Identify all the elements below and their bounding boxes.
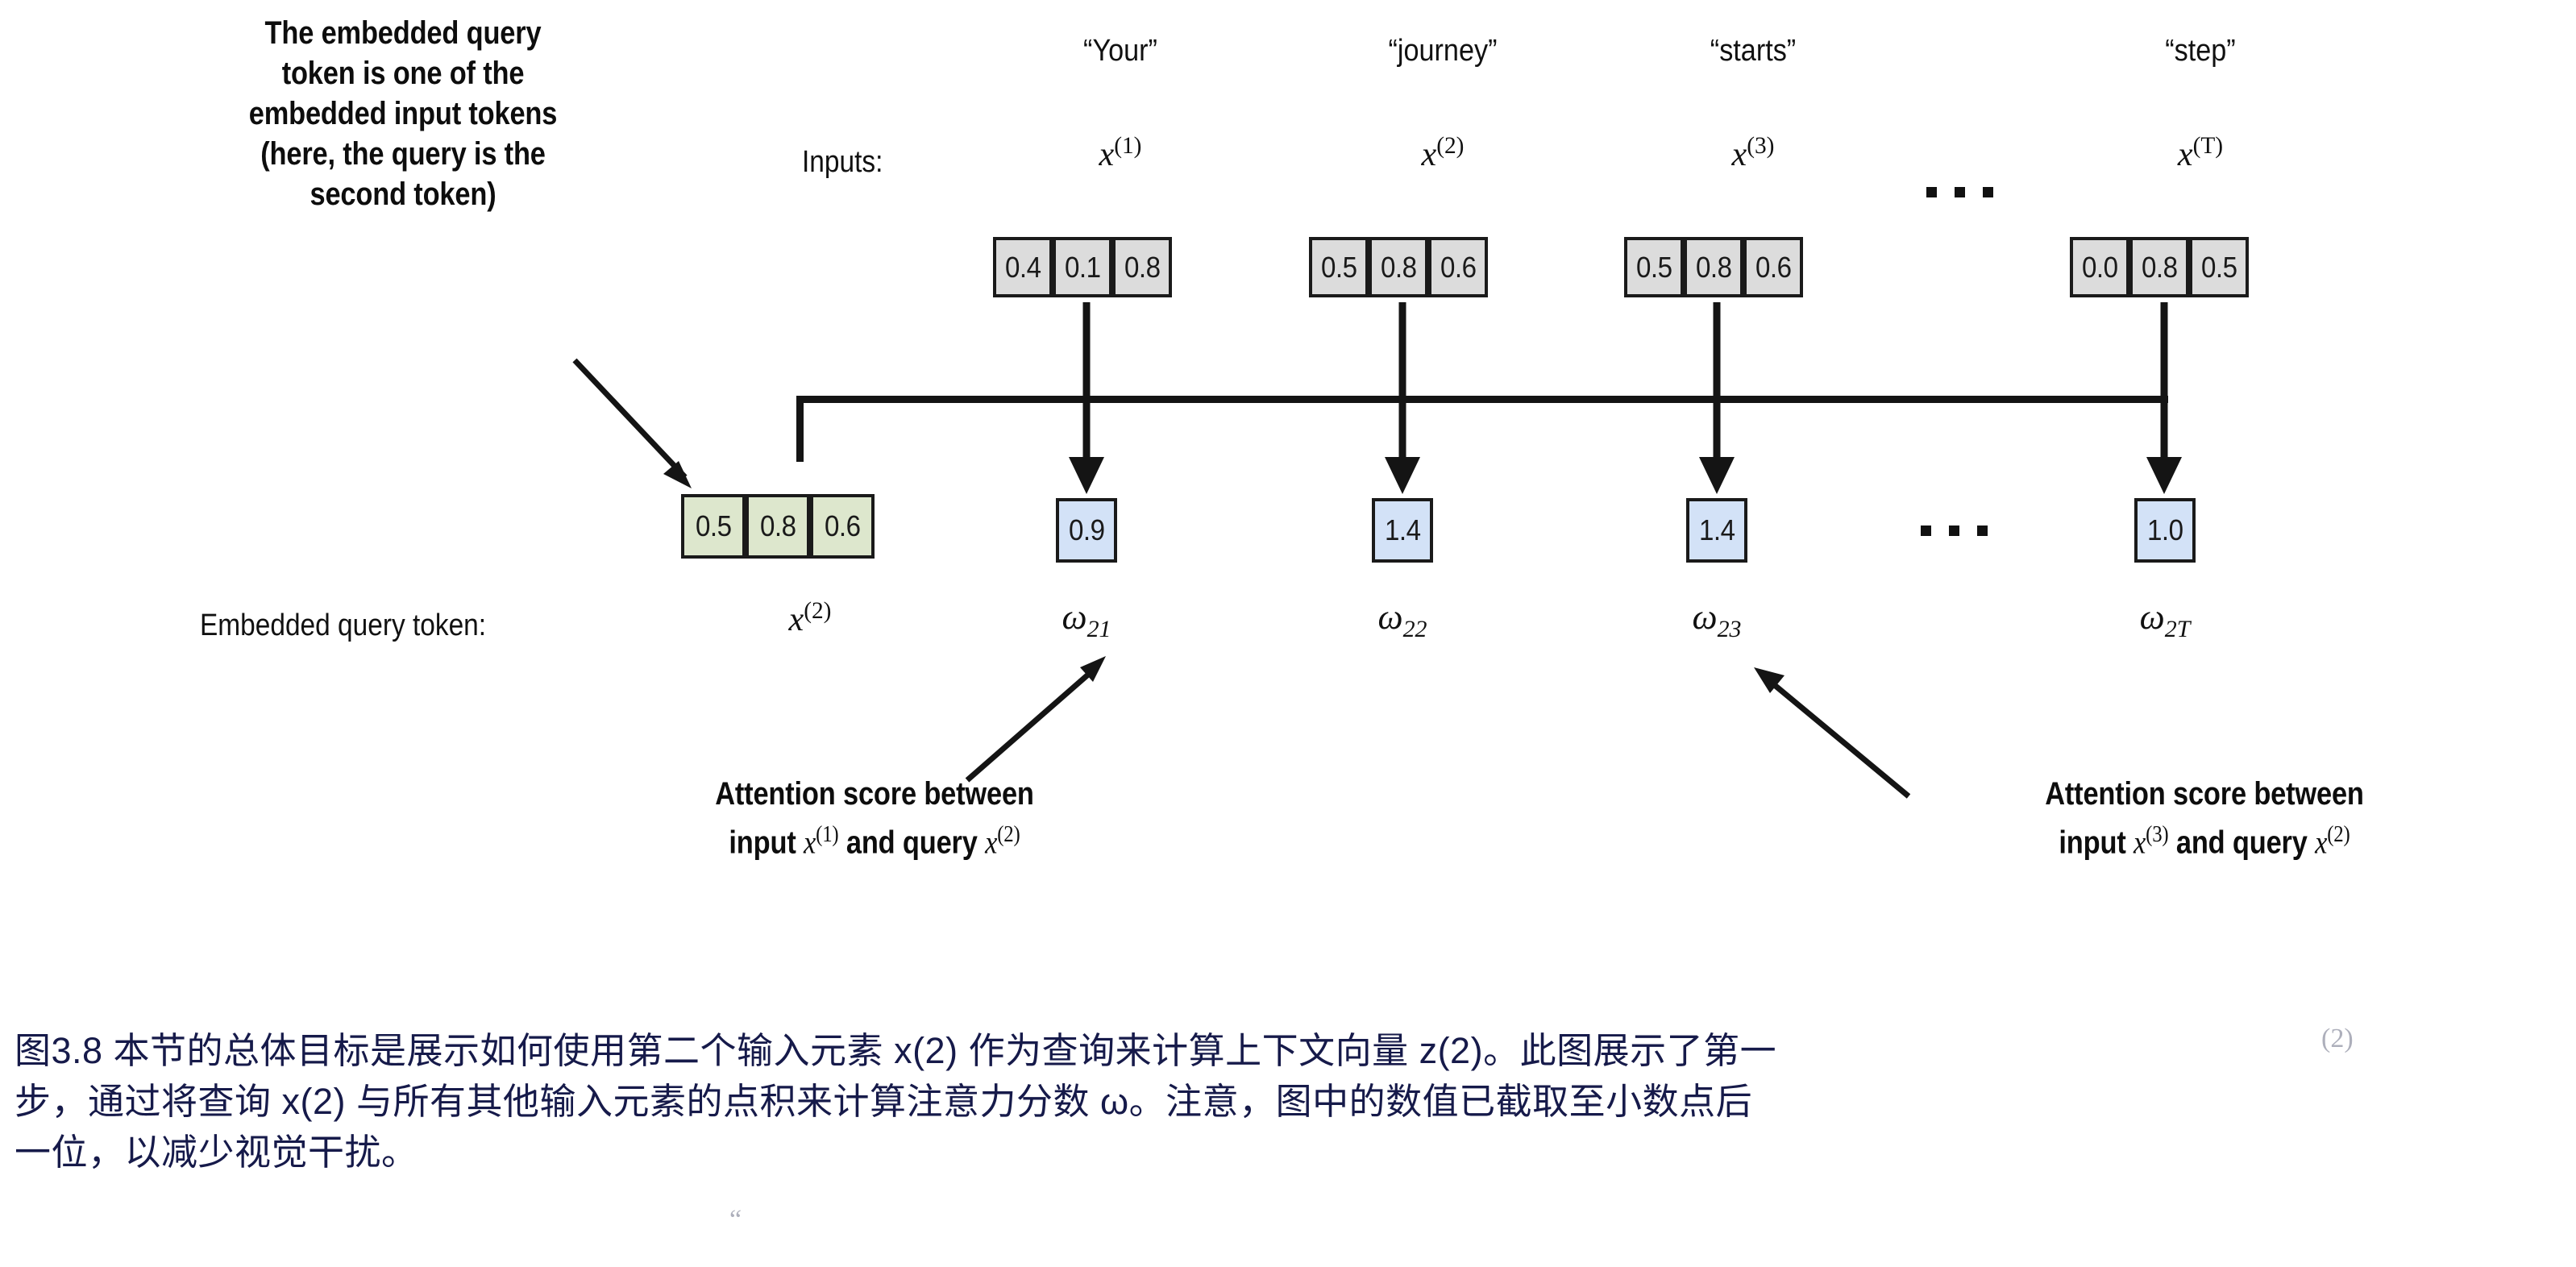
- query-token-symbol-sup: (2): [804, 598, 831, 624]
- annotation-query-note-line-1: The embedded query: [160, 13, 646, 53]
- omega-label-1-sub: 21: [1087, 616, 1111, 642]
- input-symbol-2-sup: (2): [1436, 133, 1464, 159]
- score-cell: 1.4: [1372, 498, 1433, 563]
- annotation-score-left-mid: and query: [838, 825, 985, 860]
- input-symbol-3-base: x: [1732, 136, 1747, 173]
- annotation-score-left-line-1: Attention score between: [608, 774, 1141, 814]
- distribution-bus-line: [796, 396, 2168, 403]
- input-cell: 0.8: [1112, 237, 1172, 297]
- input-cell: 0.8: [1684, 237, 1743, 297]
- score-cell-value: 0.9: [1069, 513, 1105, 547]
- input-cell: 0.6: [1743, 237, 1803, 297]
- query-token-value: 0.8: [760, 509, 796, 543]
- input-cell-value: 0.8: [1381, 251, 1417, 285]
- input-word-2: “journey”: [1334, 34, 1552, 69]
- bus-left-stub: [796, 396, 804, 462]
- query-token-cell: 0.8: [746, 494, 810, 559]
- input-symbol-3-sup: (3): [1747, 133, 1774, 159]
- arrow-input-4-to-score: [2140, 302, 2188, 496]
- input-cell-value: 0.5: [2201, 251, 2237, 285]
- input-word-1: “Your”: [1012, 34, 1229, 69]
- annotation-score-left-x1: x: [804, 824, 816, 860]
- annotation-score-right-x1: x: [2134, 824, 2146, 860]
- input-row-ellipsis: [1926, 187, 1993, 197]
- annotation-score-right-line-2: input x(3) and query x(2): [1930, 814, 2478, 862]
- caption-line-2: 步，通过将查询 x(2) 与所有其他输入元素的点积来计算注意力分数 ω。注意，图…: [15, 1076, 2570, 1127]
- input-cell: 0.8: [1369, 237, 1428, 297]
- annotation-score-right-line-1: Attention score between: [1930, 774, 2478, 814]
- annotation-score-left-sup2: (2): [997, 821, 1020, 847]
- ellipsis-dot: [1977, 525, 1988, 536]
- omega-label-4: ω2T: [2084, 596, 2246, 643]
- input-symbol-1: x(1): [999, 133, 1241, 174]
- inputs-label: Inputs:: [802, 145, 883, 180]
- omega-label-3-sub: 23: [1718, 616, 1742, 642]
- input-cell: 0.0: [2070, 237, 2129, 297]
- input-cell: 0.4: [993, 237, 1053, 297]
- input-cell: 0.5: [2189, 237, 2249, 297]
- input-cell-value: 0.5: [1321, 251, 1357, 285]
- input-symbol-2-base: x: [1422, 136, 1437, 173]
- annotation-score-right-x2: x: [2315, 824, 2327, 860]
- annotation-query-note: The embedded query token is one of the e…: [160, 13, 646, 214]
- annotation-score-left-line-2: input x(1) and query x(2): [608, 814, 1141, 862]
- input-cell: 0.1: [1053, 237, 1112, 297]
- annotation-query-note-line-5: second token): [160, 174, 646, 214]
- input-cell: 0.8: [2129, 237, 2189, 297]
- input-cell-value: 0.5: [1636, 251, 1672, 285]
- ellipsis-dot: [1955, 187, 1965, 197]
- input-cell-value: 0.6: [1755, 251, 1792, 285]
- input-symbol-2: x(2): [1322, 133, 1564, 174]
- omega-label-2: ω22: [1322, 596, 1483, 643]
- annotation-query-note-line-2: token is one of the: [160, 53, 646, 93]
- score-cell: 1.4: [1686, 498, 1747, 563]
- annotation-score-right-mid: and query: [2168, 825, 2315, 860]
- input-cell-value: 0.8: [1696, 251, 1732, 285]
- omega-label-2-base: ω: [1378, 597, 1403, 637]
- input-symbol-4-sup: (T): [2193, 133, 2224, 159]
- ellipsis-dot: [1921, 525, 1931, 536]
- omega-label-2-sub: 22: [1403, 616, 1427, 642]
- score-row-ellipsis: [1921, 525, 1988, 536]
- input-word-4: “step”: [2092, 34, 2309, 69]
- input-cell-value: 0.0: [2082, 251, 2118, 285]
- figure-canvas: The embedded query token is one of the e…: [0, 0, 2576, 1267]
- ellipsis-dot: [1926, 187, 1937, 197]
- figure-caption: 图3.8 本节的总体目标是展示如何使用第二个输入元素 x(2) 作为查询来计算上…: [15, 1025, 2570, 1178]
- arrow-input-2-to-score: [1378, 302, 1427, 496]
- embedded-query-token-label: Embedded query token:: [200, 609, 486, 643]
- input-cell-value: 0.8: [2142, 251, 2178, 285]
- omega-label-4-sub: 2T: [2165, 616, 2191, 642]
- annotation-score-left-pre: input: [729, 825, 804, 860]
- query-token-symbol-base: x: [789, 601, 804, 638]
- annotation-query-note-line-4: (here, the query is the: [160, 134, 646, 174]
- query-token-value: 0.5: [696, 509, 732, 543]
- annotation-score-right-sup2: (2): [2327, 821, 2350, 847]
- arrow-left-annotation-to-omega21: [951, 645, 1120, 790]
- arrow-input-1-to-score: [1062, 302, 1111, 496]
- query-token-cell: 0.5: [681, 494, 746, 559]
- omega-label-3: ω23: [1636, 596, 1797, 643]
- query-token-value: 0.6: [825, 509, 861, 543]
- input-cell-value: 0.6: [1440, 251, 1477, 285]
- omega-label-1-base: ω: [1062, 597, 1087, 637]
- arrow-right-annotation-to-omega23: [1725, 653, 1926, 806]
- input-cell-value: 0.4: [1005, 251, 1041, 285]
- caption-line-3: 一位，以减少视觉干扰。: [15, 1127, 2570, 1178]
- annotation-query-note-line-3: embedded input tokens: [160, 93, 646, 134]
- score-cell-value: 1.0: [2147, 513, 2183, 547]
- input-symbol-4-base: x: [2178, 136, 2193, 173]
- score-cell: 1.0: [2134, 498, 2196, 563]
- input-cell-value: 0.1: [1065, 251, 1101, 285]
- annotation-score-right: Attention score between input x(3) and q…: [1930, 774, 2478, 862]
- scan-artifact-bottom: “: [729, 1205, 742, 1236]
- omega-label-4-base: ω: [2140, 597, 2165, 637]
- input-symbol-4: x(T): [2079, 133, 2321, 174]
- query-token-cell: 0.6: [810, 494, 875, 559]
- omega-label-3-base: ω: [1693, 597, 1718, 637]
- score-cell: 0.9: [1056, 498, 1117, 563]
- caption-line-1: 图3.8 本节的总体目标是展示如何使用第二个输入元素 x(2) 作为查询来计算上…: [15, 1025, 2570, 1076]
- arrow-input-3-to-score: [1693, 302, 1741, 496]
- input-cell-value: 0.8: [1124, 251, 1161, 285]
- input-cell: 0.5: [1309, 237, 1369, 297]
- input-symbol-3: x(3): [1632, 133, 1874, 174]
- omega-label-1: ω21: [1006, 596, 1167, 643]
- annotation-score-left-x2: x: [985, 824, 997, 860]
- annotation-score-right-pre: input: [2059, 825, 2134, 860]
- score-cell-value: 1.4: [1385, 513, 1421, 547]
- arrow-note-to-query-token: [556, 339, 782, 516]
- annotation-score-left-sup1: (1): [816, 821, 838, 847]
- input-symbol-1-base: x: [1099, 136, 1115, 173]
- input-word-3: “starts”: [1644, 34, 1862, 69]
- query-token-symbol: x(2): [729, 598, 891, 639]
- ellipsis-dot: [1983, 187, 1993, 197]
- score-cell-value: 1.4: [1699, 513, 1735, 547]
- input-symbol-1-sup: (1): [1114, 133, 1141, 159]
- ellipsis-dot: [1949, 525, 1959, 536]
- annotation-score-right-sup1: (3): [2146, 821, 2168, 847]
- input-cell: 0.6: [1428, 237, 1488, 297]
- annotation-score-left: Attention score between input x(1) and q…: [608, 774, 1141, 862]
- input-cell: 0.5: [1624, 237, 1684, 297]
